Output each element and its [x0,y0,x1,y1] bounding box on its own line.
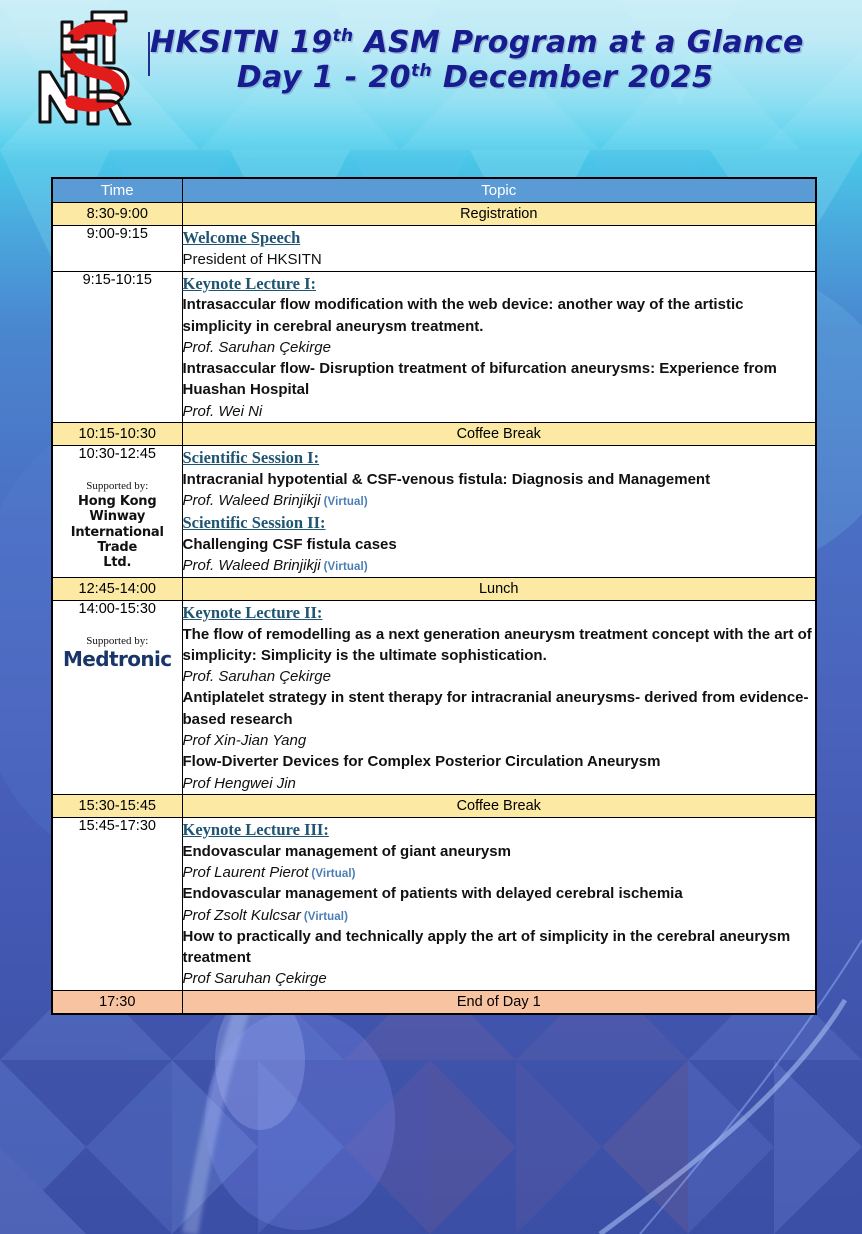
virtual-badge: (Virtual) [308,868,355,880]
cell-topic: Keynote Lecture III:Endovascular managem… [182,817,816,990]
session-heading: Welcome Speech [183,227,816,249]
virtual-badge: (Virtual) [301,911,348,923]
title-line-2: Day 1 - 20th December 2025 [150,61,800,96]
sponsor-name: Medtronic [53,649,182,670]
cell-time: 9:15-10:15 [52,271,182,423]
cell-topic: Coffee Break [182,423,816,446]
cell-time: 12:45-14:00 [52,577,182,600]
cell-topic: Keynote Lecture I:Intrasaccular flow mod… [182,271,816,423]
table-row: 9:00-9:15Welcome SpeechPresident of HKSI… [52,226,816,272]
cell-topic: Coffee Break [182,794,816,817]
virtual-badge: (Virtual) [321,561,368,573]
talk-title: How to practically and technically apply… [183,926,816,969]
speaker-name: Prof Zsolt Kulcsar(Virtual) [183,905,816,926]
break-label: Coffee Break [457,426,541,442]
time-label: 9:15-10:15 [53,272,182,288]
talk-title: Endovascular management of patients with… [183,883,816,904]
table-row: 17:30End of Day 1 [52,990,816,1014]
schedule-table: Time Topic 8:30-9:00Registration9:00-9:1… [51,177,817,1015]
session-heading: Scientific Session I: [183,447,816,469]
table-header-row: Time Topic [52,178,816,203]
supported-by-label: Supported by: [53,480,182,493]
time-label: 8:30-9:00 [53,203,182,225]
cell-topic: Welcome SpeechPresident of HKSITN [182,226,816,272]
hksitn-logo-icon [26,6,146,134]
cell-time: 10:30-12:45Supported by:Hong Kong Winway… [52,446,182,578]
speaker-name: Prof Xin-Jian Yang [183,730,816,751]
cell-time: 17:30 [52,990,182,1014]
sponsor-name: Hong Kong Winway [53,494,182,525]
title-line-1: HKSITN 19th ASM Program at a Glance [150,26,800,61]
talk-title: Intrasaccular flow modification with the… [183,294,816,337]
speaker-name: Prof. Waleed Brinjikji(Virtual) [183,490,816,511]
talk-title: Antiplatelet strategy in stent therapy f… [183,687,816,730]
talk-title: Flow-Diverter Devices for Complex Poster… [183,751,816,772]
table-row: 8:30-9:00Registration [52,203,816,226]
time-label: 12:45-14:00 [53,578,182,600]
cell-time: 10:15-10:30 [52,423,182,446]
cell-time: 15:45-17:30 [52,817,182,990]
speaker-name: Prof Hengwei Jin [183,773,816,794]
session-heading: Keynote Lecture II: [183,602,816,624]
session-heading: Scientific Session II: [183,512,816,534]
column-header-topic: Topic [182,178,816,203]
virtual-badge: (Virtual) [321,496,368,508]
time-label: 14:00-15:30 [53,601,182,617]
supported-by-label: Supported by: [53,635,182,648]
column-header-time: Time [52,178,182,203]
cell-time: 8:30-9:00 [52,203,182,226]
cell-time: 15:30-15:45 [52,794,182,817]
break-label: Coffee Break [457,798,541,814]
time-label: 15:30-15:45 [53,795,182,817]
page-header: HKSITN 19th ASM Program at a Glance Day … [0,0,862,150]
cell-topic: Lunch [182,577,816,600]
session-heading: Keynote Lecture III: [183,819,816,841]
break-label: Registration [460,206,537,222]
sponsor-name: International Trade [53,525,182,556]
sponsor-block: Supported by:Hong Kong WinwayInternation… [53,480,182,571]
table-row: 15:30-15:45Coffee Break [52,794,816,817]
cell-topic: Keynote Lecture II:The flow of remodelli… [182,600,816,794]
schedule-body: 8:30-9:00Registration9:00-9:15Welcome Sp… [52,203,816,1014]
speaker-name: Prof Laurent Pierot(Virtual) [183,862,816,883]
cell-topic: Registration [182,203,816,226]
sponsor-block: Supported by:Medtronic [53,635,182,670]
time-label: 10:30-12:45 [53,446,182,462]
page-title: HKSITN 19th ASM Program at a Glance Day … [150,26,800,95]
break-label: Lunch [479,581,519,597]
table-row: 14:00-15:30Supported by:MedtronicKeynote… [52,600,816,794]
talk-title: Endovascular management of giant aneurys… [183,841,816,862]
break-label: End of Day 1 [457,994,541,1010]
cell-topic: Scientific Session I:Intracranial hypote… [182,446,816,578]
talk-title: Challenging CSF fistula cases [183,534,816,555]
sponsor-name: Ltd. [53,555,182,570]
session-heading: Keynote Lecture I: [183,273,816,295]
speaker-name: Prof. Wei Ni [183,401,816,422]
speaker-name: Prof. Waleed Brinjikji(Virtual) [183,555,816,576]
table-row: 12:45-14:00Lunch [52,577,816,600]
time-label: 9:00-9:15 [53,226,182,242]
talk-title: Intrasaccular flow- Disruption treatment… [183,358,816,401]
cell-topic: End of Day 1 [182,990,816,1014]
table-row: 15:45-17:30Keynote Lecture III:Endovascu… [52,817,816,990]
speaker-name: Prof. Saruhan Çekirge [183,337,816,358]
talk-title: The flow of remodelling as a next genera… [183,624,816,667]
topic-subtitle: President of HKSITN [183,249,816,271]
table-row: 10:15-10:30Coffee Break [52,423,816,446]
time-label: 10:15-10:30 [53,423,182,445]
time-label: 17:30 [53,991,182,1013]
program-schedule: Time Topic 8:30-9:00Registration9:00-9:1… [51,177,817,1015]
time-label: 15:45-17:30 [53,818,182,834]
speaker-name: Prof Saruhan Çekirge [183,968,816,989]
cell-time: 9:00-9:15 [52,226,182,272]
talk-title: Intracranial hypotential & CSF-venous fi… [183,469,816,490]
table-row: 9:15-10:15Keynote Lecture I:Intrasaccula… [52,271,816,423]
speaker-name: Prof. Saruhan Çekirge [183,666,816,687]
cell-time: 14:00-15:30Supported by:Medtronic [52,600,182,794]
table-row: 10:30-12:45Supported by:Hong Kong Winway… [52,446,816,578]
